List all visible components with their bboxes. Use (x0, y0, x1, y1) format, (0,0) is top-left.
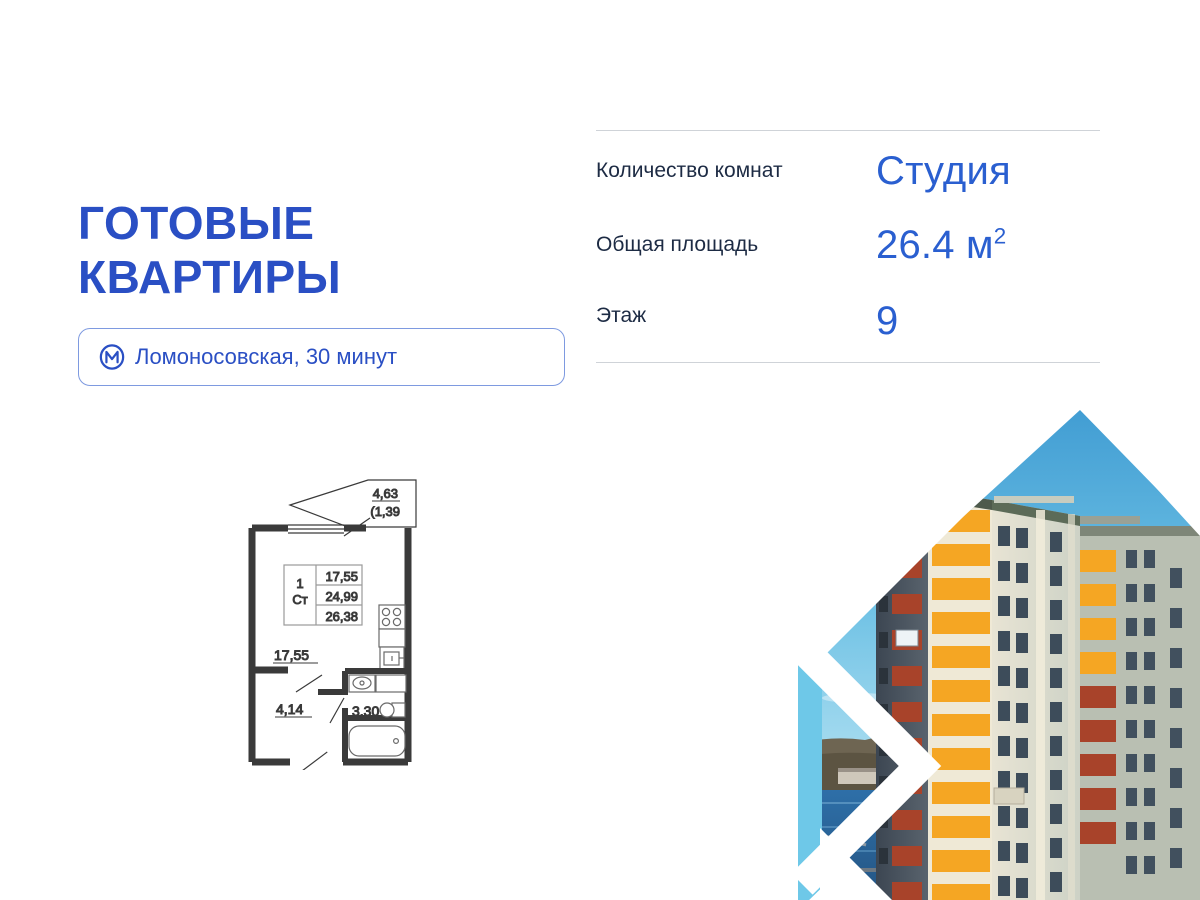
window-icon (288, 525, 344, 533)
spec-label-rooms: Количество комнат (596, 148, 876, 184)
floorplan-drawing: 4,63 (1,39 1 Ст (248, 470, 438, 770)
spec-label-area: Общая площадь (596, 222, 876, 258)
spec-value-area: 26.4 м2 (876, 222, 1100, 268)
spec-row-rooms: Количество комнат Студия (596, 148, 1100, 222)
page-title-line-2: КВАРТИРЫ (78, 250, 578, 304)
spec-label-floor: Этаж (596, 298, 876, 329)
building-photo-composition (780, 398, 1200, 900)
spec-row-area: Общая площадь 26.4 м2 (596, 222, 1100, 298)
spec-value-rooms: Студия (876, 148, 1100, 194)
summary-rooms-type: Ст (292, 592, 307, 607)
balcony-reduced-area-label: (1,39 (370, 504, 400, 519)
summary-total-area: 26,38 (325, 609, 358, 624)
summary-area-without-balcony: 24,99 (325, 589, 358, 604)
floorplan[interactable]: 4,63 (1,39 1 Ст (248, 470, 438, 770)
stove-icon (379, 605, 405, 629)
lit-window (896, 630, 918, 646)
toilet-icon (380, 703, 405, 717)
spec-value-floor: 9 (876, 298, 1100, 344)
spec-row-floor: Этаж 9 (596, 298, 1100, 350)
bathroom-door-icon (330, 698, 344, 723)
metro-badge-label: Ломоносовская, 30 минут (135, 344, 397, 370)
summary-rooms-count: 1 (296, 576, 303, 591)
floorplan-summary-table: 1 Ст 17,55 24,99 26,38 (284, 565, 362, 625)
building-center-facade (992, 500, 1080, 900)
building-photo-block (780, 398, 1200, 900)
room-area-bathroom: 3,30 (352, 703, 379, 719)
spec-area-number: 26.4 (876, 223, 955, 267)
metro-badge[interactable]: Ломоносовская, 30 минут (78, 328, 565, 386)
spec-area-unit: м (966, 223, 994, 267)
summary-living-area: 17,55 (325, 569, 358, 584)
spec-area-superscript: 2 (994, 224, 1007, 249)
metro-m-icon (99, 344, 125, 370)
kitchen-counter (379, 629, 405, 647)
apartment-specs-panel: Количество комнат Студия Общая площадь 2… (596, 130, 1100, 363)
bathtub-icon (349, 726, 405, 756)
building-orange-tower (928, 490, 992, 900)
loggia-band (994, 788, 1024, 804)
balcony-area-label: 4,63 (373, 486, 398, 501)
sink-icon (380, 647, 404, 669)
page-title: ГОТОВЫЕ КВАРТИРЫ (78, 196, 578, 304)
room-area-main: 17,55 (274, 647, 309, 663)
building-right-wing (1066, 526, 1200, 900)
washbasin-icon (349, 675, 375, 692)
left-column: ГОТОВЫЕ КВАРТИРЫ Ломоносовская, 30 минут (78, 196, 578, 386)
bathroom-counter (376, 675, 406, 692)
room-area-hallway: 4,14 (276, 701, 303, 717)
entrance-door-icon (287, 752, 329, 770)
page-title-line-1: ГОТОВЫЕ (78, 196, 578, 250)
